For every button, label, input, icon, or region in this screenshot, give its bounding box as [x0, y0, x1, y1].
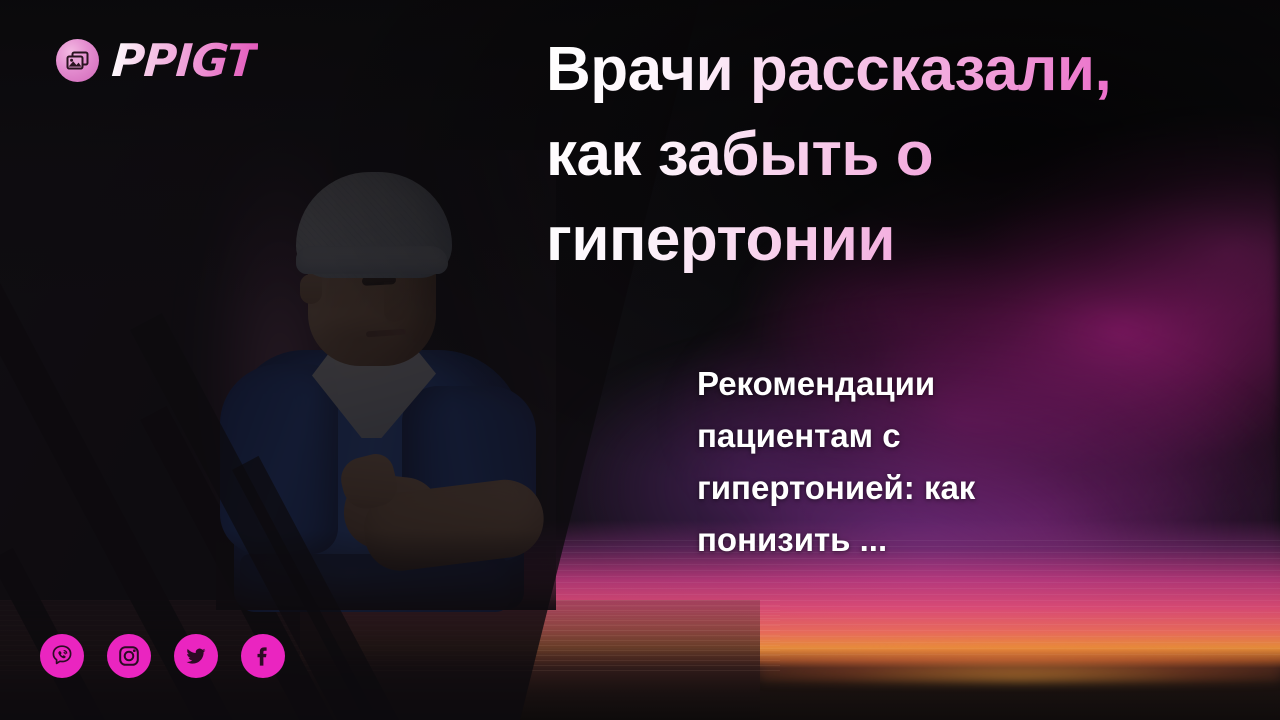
social-link-viber[interactable]: [40, 634, 84, 678]
viber-icon: [49, 643, 75, 669]
subtitle-line-1: Рекомендации: [697, 358, 1117, 410]
headline-line-2: как забыть о: [546, 112, 1246, 197]
brand-name: PPIGT: [110, 34, 258, 87]
headline-line-1: Врачи рассказали,: [546, 27, 1246, 112]
facebook-icon: [250, 643, 276, 669]
social-link-facebook[interactable]: [241, 634, 285, 678]
social-link-instagram[interactable]: [107, 634, 151, 678]
brand-logo[interactable]: PPIGT: [56, 34, 257, 87]
subtitle: Рекомендации пациентам с гипертонией: ка…: [697, 358, 1117, 566]
promo-banner: PPIGT Врачи рассказали, как забыть о гип…: [0, 0, 1280, 720]
subtitle-line-3: гипертонией: как: [697, 462, 1117, 514]
instagram-icon: [116, 643, 142, 669]
social-link-twitter[interactable]: [174, 634, 218, 678]
headline-line-3: гипертонии: [546, 197, 1246, 282]
twitter-icon: [183, 643, 209, 669]
photo-gallery-icon: [56, 39, 99, 82]
subtitle-line-4: понизить ...: [697, 514, 1117, 566]
social-links: [40, 634, 285, 678]
page-title: Врачи рассказали, как забыть о гипертони…: [546, 27, 1246, 282]
subtitle-line-2: пациентам с: [697, 410, 1117, 462]
